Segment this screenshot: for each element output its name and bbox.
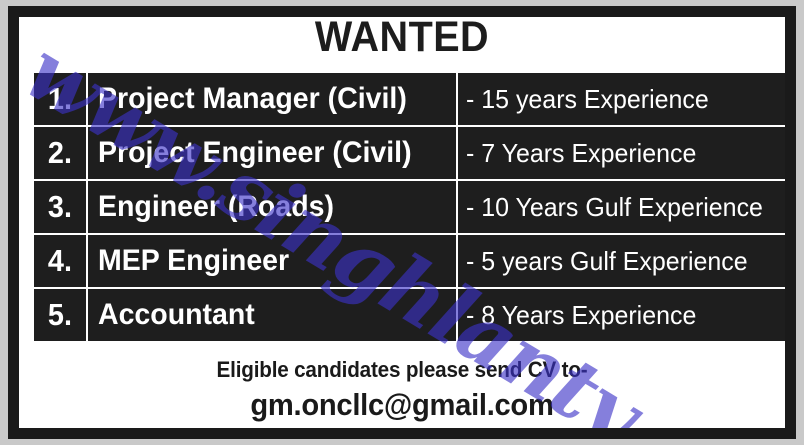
row-number: 5. [48,297,72,333]
contact-email[interactable]: gm.oncllc@gmail.com [42,387,762,423]
row-experience-cell: - 5 years Gulf Experience [458,235,785,287]
row-position-cell: MEP Engineer [88,235,456,287]
row-experience: - 5 years Gulf Experience [466,246,748,277]
application-instruction: Eligible candidates please send CV to- [42,357,762,383]
row-number-cell: 2. [34,127,86,179]
row-number: 1. [48,81,72,117]
row-position: MEP Engineer [98,244,289,278]
row-number: 2. [48,135,72,171]
poster-inner: WANTED 1. Project Manager (Civil) - 15 y… [19,17,785,428]
row-experience: - 15 years Experience [466,84,709,115]
row-number: 3. [48,189,72,225]
row-position-cell: Project Engineer (Civil) [88,127,456,179]
row-position: Project Manager (Civil) [98,82,407,116]
row-number-cell: 4. [34,235,86,287]
row-experience-cell: - 8 Years Experience [458,289,785,341]
row-position-cell: Project Manager (Civil) [88,73,456,125]
table-row: 3. Engineer (Roads) - 10 Years Gulf Expe… [34,181,785,233]
page-title: WANTED [50,17,755,62]
row-number: 4. [48,243,72,279]
row-position: Accountant [98,298,255,332]
table-row: 4. MEP Engineer - 5 years Gulf Experienc… [34,235,785,287]
row-experience: - 8 Years Experience [466,300,696,331]
poster-frame: WANTED 1. Project Manager (Civil) - 15 y… [8,6,796,439]
table-row: 2. Project Engineer (Civil) - 7 Years Ex… [34,127,785,179]
row-position: Project Engineer (Civil) [98,136,412,170]
row-position-cell: Accountant [88,289,456,341]
row-experience-cell: - 15 years Experience [458,73,785,125]
row-experience: - 7 Years Experience [466,138,696,169]
row-experience: - 10 Years Gulf Experience [466,192,763,223]
row-position: Engineer (Roads) [98,190,334,224]
table-row: 5. Accountant - 8 Years Experience [34,289,785,341]
row-experience-cell: - 10 Years Gulf Experience [458,181,785,233]
table-row: 1. Project Manager (Civil) - 15 years Ex… [34,73,785,125]
footer-block: Eligible candidates please send CV to- g… [19,357,785,423]
row-number-cell: 5. [34,289,86,341]
row-experience-cell: - 7 Years Experience [458,127,785,179]
row-number-cell: 3. [34,181,86,233]
row-number-cell: 1. [34,73,86,125]
vacancy-table: 1. Project Manager (Civil) - 15 years Ex… [34,73,785,341]
row-position-cell: Engineer (Roads) [88,181,456,233]
